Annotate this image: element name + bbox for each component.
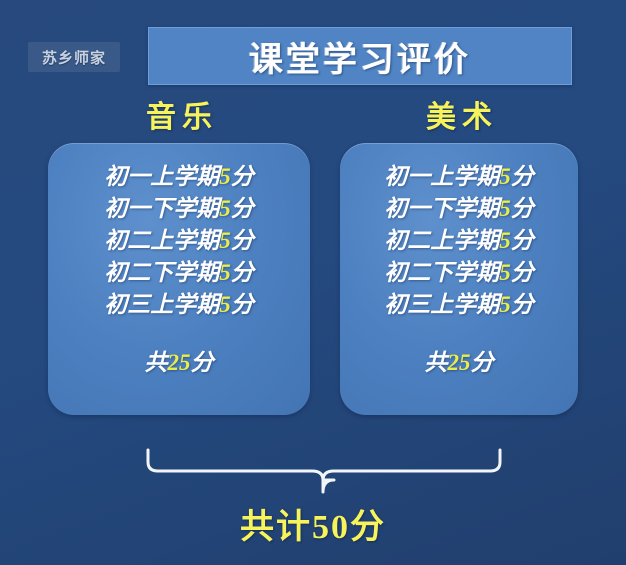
score-row-value: 5 — [219, 196, 231, 221]
score-row-value: 5 — [499, 228, 511, 253]
score-row-unit: 分 — [231, 164, 254, 189]
grand-total: 共计50分 — [0, 498, 626, 548]
score-row-unit: 分 — [511, 196, 534, 221]
card-subtotal: 共25分 — [145, 343, 214, 377]
subject-label: 美术 — [420, 92, 498, 136]
score-row-term: 初二上学期 — [104, 228, 219, 253]
score-row-unit: 分 — [231, 292, 254, 317]
score-row-unit: 分 — [231, 228, 254, 253]
score-row-unit: 分 — [511, 164, 534, 189]
card-subtotal-value: 25 — [448, 350, 471, 375]
score-row: 初一上学期5分 — [384, 161, 534, 193]
score-row-unit: 分 — [231, 196, 254, 221]
score-row: 初一下学期5分 — [384, 193, 534, 225]
score-row-term: 初二下学期 — [384, 260, 499, 285]
curly-brace-down-icon — [140, 440, 510, 496]
grand-total-label: 共计50分 — [240, 499, 386, 548]
card-subtotal: 共25分 — [425, 343, 494, 377]
subject-header-music: 音乐 — [48, 94, 310, 134]
score-row-value: 5 — [219, 292, 231, 317]
score-row: 初二下学期5分 — [104, 257, 254, 289]
score-row-value: 5 — [219, 260, 231, 285]
poster-canvas: 苏乡师家 课堂学习评价 音乐 美术 初一上学期5分 初一下学期5分 初二上学期5… — [0, 0, 626, 565]
score-row-value: 5 — [499, 164, 511, 189]
score-row-term: 初三上学期 — [104, 292, 219, 317]
title-banner: 课堂学习评价 — [148, 27, 572, 85]
score-row: 初一下学期5分 — [104, 193, 254, 225]
score-row: 初二下学期5分 — [384, 257, 534, 289]
subject-header-fine-arts: 美术 — [340, 94, 578, 134]
score-row-term: 初三上学期 — [384, 292, 499, 317]
score-card-music: 初一上学期5分 初一下学期5分 初二上学期5分 初二下学期5分 初三上学期5分 … — [48, 143, 310, 415]
card-subtotal-unit: 分 — [191, 350, 214, 375]
score-row-unit: 分 — [511, 228, 534, 253]
brace-container — [140, 440, 510, 496]
score-row-term: 初一上学期 — [104, 164, 219, 189]
score-row-term: 初一下学期 — [104, 196, 219, 221]
score-row-unit: 分 — [511, 292, 534, 317]
score-row-value: 5 — [499, 196, 511, 221]
watermark-label: 苏乡师家 — [42, 47, 106, 68]
score-row-term: 初一上学期 — [384, 164, 499, 189]
card-subtotal-prefix: 共 — [425, 350, 448, 375]
score-row-value: 5 — [499, 292, 511, 317]
score-row-term: 初二上学期 — [384, 228, 499, 253]
subject-label: 音乐 — [140, 92, 218, 136]
score-row: 初二上学期5分 — [104, 225, 254, 257]
card-subtotal-value: 25 — [168, 350, 191, 375]
score-row-unit: 分 — [231, 260, 254, 285]
card-subtotal-unit: 分 — [471, 350, 494, 375]
score-row: 初三上学期5分 — [104, 289, 254, 321]
card-subtotal-prefix: 共 — [145, 350, 168, 375]
score-row-term: 初二下学期 — [104, 260, 219, 285]
score-card-fine-arts: 初一上学期5分 初一下学期5分 初二上学期5分 初二下学期5分 初三上学期5分 … — [340, 143, 578, 415]
score-row-unit: 分 — [511, 260, 534, 285]
score-row-term: 初一下学期 — [384, 196, 499, 221]
watermark-badge: 苏乡师家 — [28, 42, 120, 72]
score-row-value: 5 — [219, 228, 231, 253]
score-row: 初一上学期5分 — [104, 161, 254, 193]
score-row-value: 5 — [499, 260, 511, 285]
score-row: 初二上学期5分 — [384, 225, 534, 257]
score-row: 初三上学期5分 — [384, 289, 534, 321]
page-title: 课堂学习评价 — [249, 32, 471, 81]
score-row-value: 5 — [219, 164, 231, 189]
